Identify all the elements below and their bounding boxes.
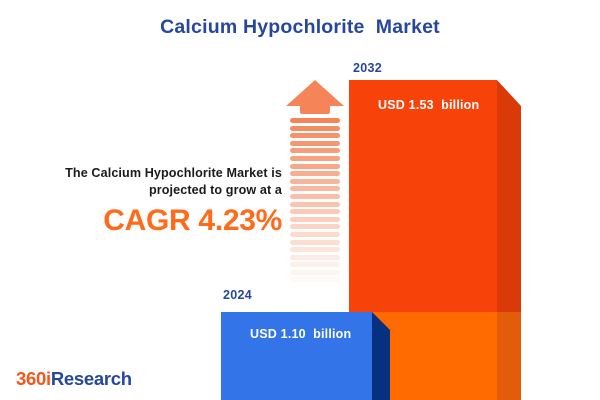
arrow-stripe [290, 133, 340, 138]
arrow-stripe [290, 171, 340, 176]
narrative-block: The Calcium Hypochlorite Market is proje… [14, 165, 282, 238]
arrow-stripe [290, 270, 340, 275]
page-title: Calcium Hypochlorite Market [0, 16, 600, 39]
arrow-stripe [290, 277, 340, 282]
brand-logo: 360iResearch [16, 368, 132, 390]
bar-2024 [221, 312, 390, 400]
bar-2032-year-label: 2032 [353, 61, 382, 75]
arrow-stripe [290, 232, 340, 237]
bar-2024-year-label: 2024 [223, 288, 252, 302]
arrow-stripe [290, 141, 340, 146]
arrow-head-icon [286, 80, 344, 114]
arrow-triangle-shape [286, 80, 344, 106]
arrow-stripe [290, 164, 340, 169]
arrow-stripe [290, 209, 340, 214]
arrow-stripe [290, 194, 340, 199]
cagr-value: CAGR 4.23% [14, 204, 282, 238]
arrow-stripe [290, 247, 340, 252]
bar-2024-front-face [221, 312, 372, 400]
arrow-stripe [290, 240, 340, 245]
brand-logo-prefix: 360i [16, 368, 51, 389]
arrow-stripe [290, 148, 340, 153]
brand-logo-suffix: Research [51, 368, 132, 389]
arrow-stripe [290, 126, 340, 131]
bar-2032-value-label: USD 1.53 billion [378, 98, 479, 112]
arrow-neck-shape [300, 105, 330, 114]
arrow-stripe [290, 118, 340, 123]
infographic-canvas: Calcium Hypochlorite Market The Calcium … [0, 0, 600, 400]
bar-2024-side-face [372, 312, 390, 400]
arrow-stripe [290, 255, 340, 260]
arrow-stripe [290, 224, 340, 229]
arrow-stripe [290, 156, 340, 161]
arrow-stripe [290, 186, 340, 191]
arrow-stripe [290, 179, 340, 184]
narrative-line-1: The Calcium Hypochlorite Market is [14, 165, 282, 182]
arrow-stripe [290, 217, 340, 222]
arrow-stripe [290, 262, 340, 267]
narrative-line-2: projected to grow at a [14, 182, 282, 199]
arrow-stripes-group [290, 118, 340, 288]
bar-2032-side-face-lower [497, 312, 521, 400]
arrow-stripe [290, 202, 340, 207]
bar-2024-value-label: USD 1.10 billion [250, 327, 351, 341]
growth-arrow-icon [286, 80, 344, 288]
